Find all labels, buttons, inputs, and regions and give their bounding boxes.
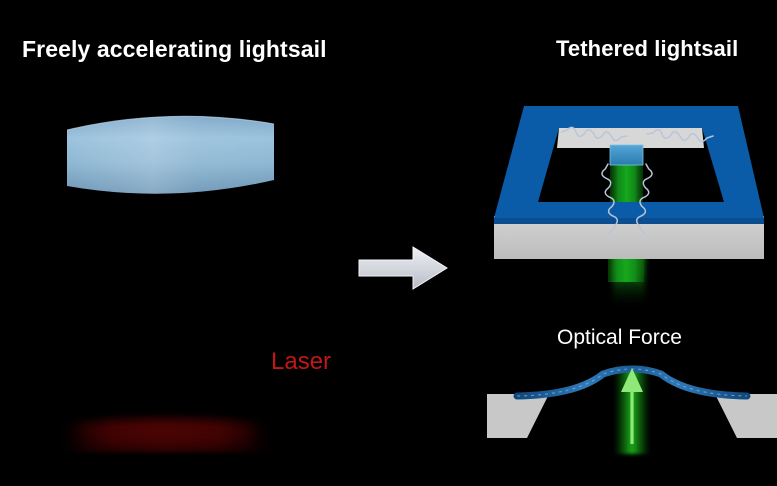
lightsail-figure: Freely accelerating lightsail Laser [0,0,777,486]
page-title-left: Freely accelerating lightsail [22,36,327,63]
tethered-lightsail-device [490,96,768,302]
lightsail-membrane [60,108,280,204]
page-title-right: Tethered lightsail [556,36,738,62]
support-right [715,394,777,438]
right-arrow-icon [355,242,451,294]
optical-force-diagram [487,352,777,450]
optical-force-arrow [621,368,643,444]
suspended-membrane [610,145,643,165]
laser-label: Laser [271,348,331,376]
support-left [487,394,549,438]
laser-beam [60,168,272,453]
optical-force-label: Optical Force [557,326,682,350]
sail-sheen [67,116,274,193]
arrow-shape [359,247,447,289]
device-frame-lip [494,218,764,224]
